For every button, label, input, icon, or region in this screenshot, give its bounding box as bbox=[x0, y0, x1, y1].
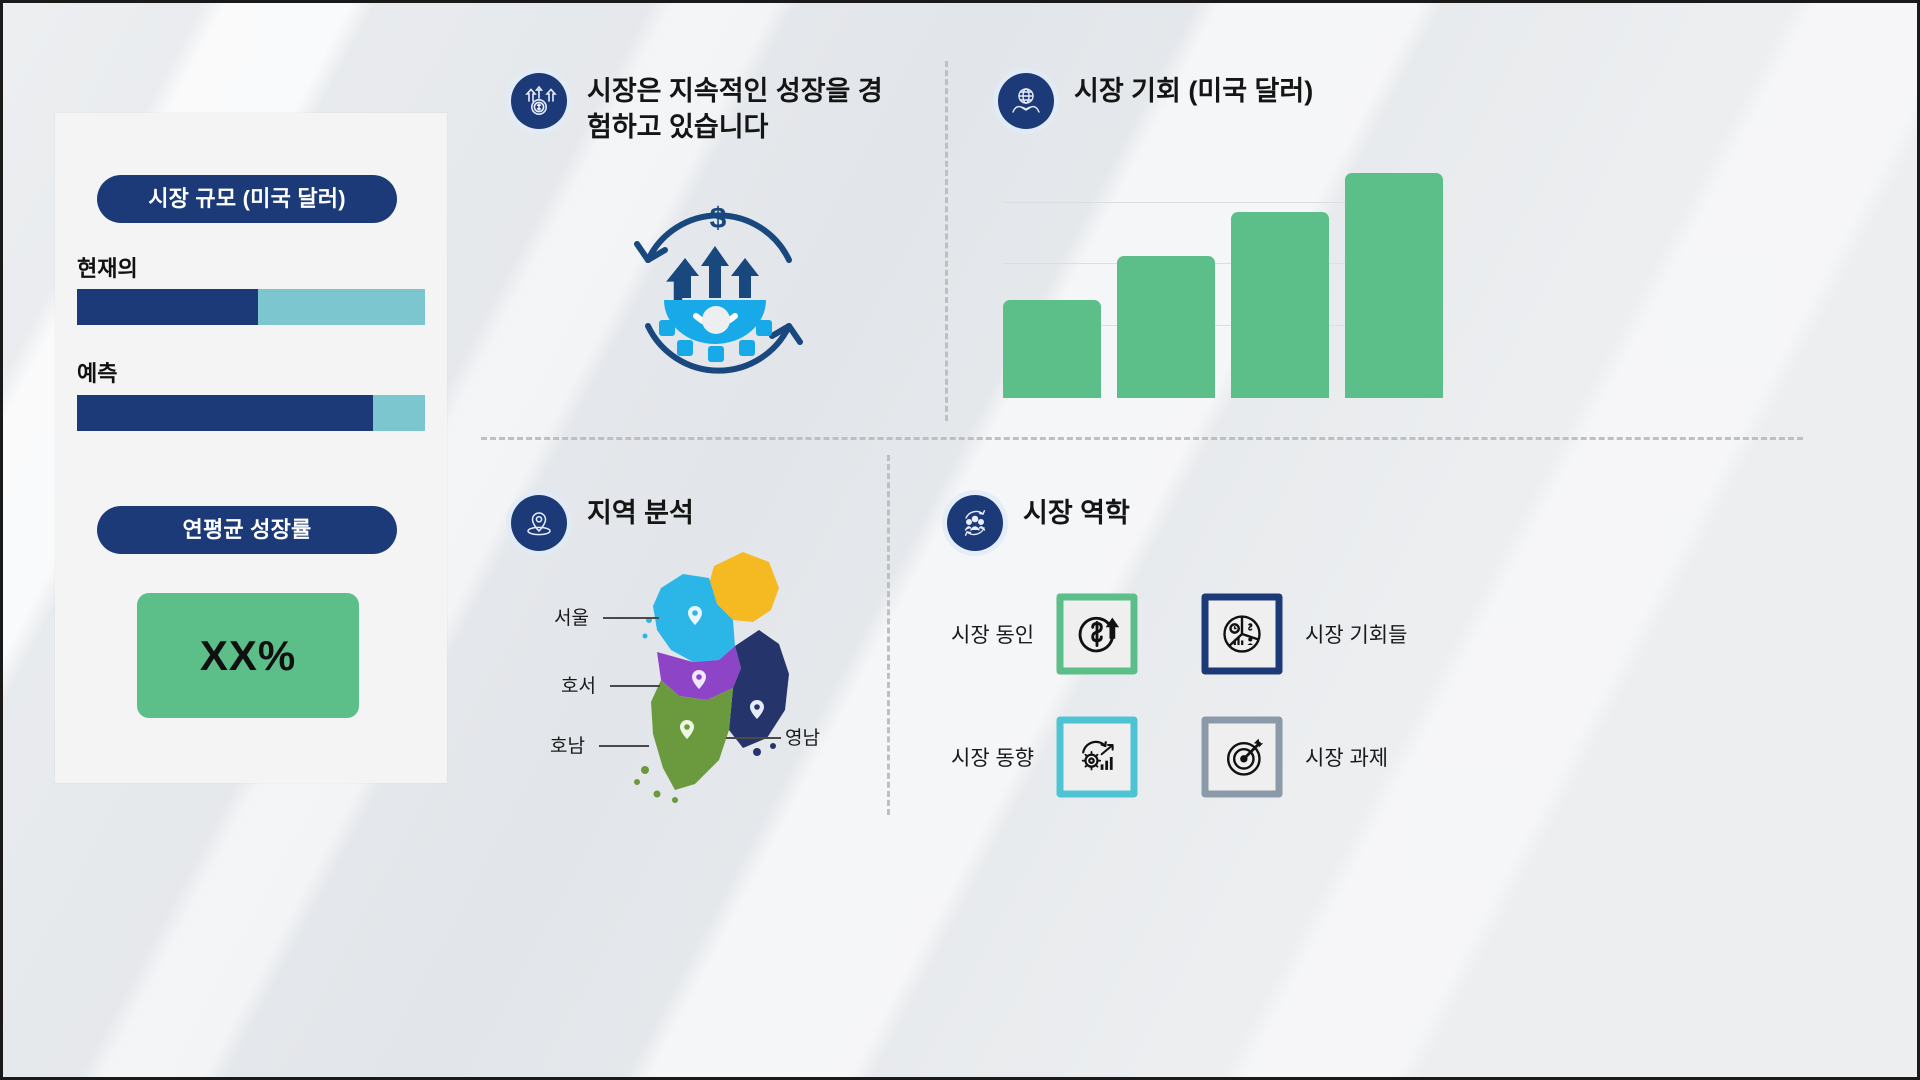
map-leader-line-yeongnam bbox=[726, 737, 781, 739]
map-leader-line-honam bbox=[599, 745, 649, 747]
dynamics-item-trends[interactable]: 시장 동향 bbox=[951, 716, 1138, 798]
chart-bar bbox=[1117, 256, 1215, 398]
map-label-yeongnam: 영남 bbox=[785, 723, 820, 750]
forecast-bar-label: 예측 bbox=[77, 356, 117, 388]
chart-bar bbox=[1231, 212, 1329, 398]
regional-section-header: 지역 분석 bbox=[511, 495, 694, 551]
divider-vertical-bottom bbox=[887, 455, 890, 815]
location-pin-icon bbox=[511, 495, 567, 551]
current-bar-track bbox=[77, 289, 425, 325]
regional-section-title: 지역 분석 bbox=[587, 495, 694, 531]
current-bar-label: 현재의 bbox=[77, 251, 138, 283]
map-leader-line-hoseo bbox=[610, 685, 660, 687]
map-leader-line-seoul bbox=[603, 617, 659, 619]
current-bar-fill bbox=[77, 289, 258, 325]
pie-chart-icon bbox=[1201, 593, 1283, 675]
market-opportunity-bar-chart bbox=[1003, 153, 1443, 398]
target-dart-icon bbox=[1201, 716, 1283, 798]
opportunity-section-title: 시장 기회 (미국 달러) bbox=[1074, 73, 1313, 109]
chart-bar bbox=[1345, 173, 1443, 398]
gear-dollar-growth-cycle-illustration: $ bbox=[601, 188, 836, 398]
divider-vertical-top bbox=[945, 61, 948, 421]
dynamics-label-opportunities: 시장 기회들 bbox=[1305, 619, 1407, 649]
dynamics-item-challenges[interactable]: 시장 과제 bbox=[1201, 716, 1388, 798]
growth-coin-arrows-icon bbox=[511, 73, 567, 129]
growth-section-title: 시장은 지속적인 성장을 경험하고 있습니다 bbox=[587, 73, 907, 146]
south-korea-region-map bbox=[583, 548, 883, 818]
dynamics-item-drivers[interactable]: 시장 동인 bbox=[951, 593, 1138, 675]
divider-horizontal-middle bbox=[481, 437, 1803, 440]
map-label-seoul: 서울 bbox=[554, 603, 589, 630]
globe-in-hands-icon bbox=[998, 73, 1054, 129]
dynamics-label-trends: 시장 동향 bbox=[951, 742, 1034, 772]
growth-section-header: 시장은 지속적인 성장을 경험하고 있습니다 bbox=[511, 73, 911, 146]
people-cycle-icon bbox=[947, 495, 1003, 551]
dollar-up-arrow-icon bbox=[1056, 593, 1138, 675]
dynamics-section-header: 시장 역학 bbox=[947, 495, 1130, 551]
svg-text:$: $ bbox=[710, 202, 727, 235]
market-size-card: 시장 규모 (미국 달러) 현재의 예측 연평균 성장률 XX% bbox=[55, 113, 447, 783]
gears-growth-icon bbox=[1056, 716, 1138, 798]
dynamics-label-challenges: 시장 과제 bbox=[1305, 742, 1388, 772]
map-label-honam: 호남 bbox=[550, 731, 585, 758]
opportunity-section-header: 시장 기회 (미국 달러) bbox=[998, 73, 1313, 129]
cagr-title-pill: 연평균 성장률 bbox=[97, 506, 397, 554]
forecast-bar-fill bbox=[77, 395, 373, 431]
map-region-yeongnam bbox=[729, 630, 789, 748]
forecast-bar-track bbox=[77, 395, 425, 431]
map-label-hoseo: 호서 bbox=[561, 671, 596, 698]
dynamics-item-opportunities[interactable]: 시장 기회들 bbox=[1201, 593, 1407, 675]
infographic-frame: 시장 규모 (미국 달러) 현재의 예측 연평균 성장률 XX% 시장은 지속적… bbox=[3, 3, 1917, 1077]
dynamics-label-drivers: 시장 동인 bbox=[951, 619, 1034, 649]
chart-bar bbox=[1003, 300, 1101, 398]
dynamics-section-title: 시장 역학 bbox=[1023, 495, 1130, 531]
market-dynamics-grid: 시장 동인 bbox=[939, 583, 1499, 813]
cagr-value-box: XX% bbox=[137, 593, 359, 718]
market-size-title-pill: 시장 규모 (미국 달러) bbox=[97, 175, 397, 223]
